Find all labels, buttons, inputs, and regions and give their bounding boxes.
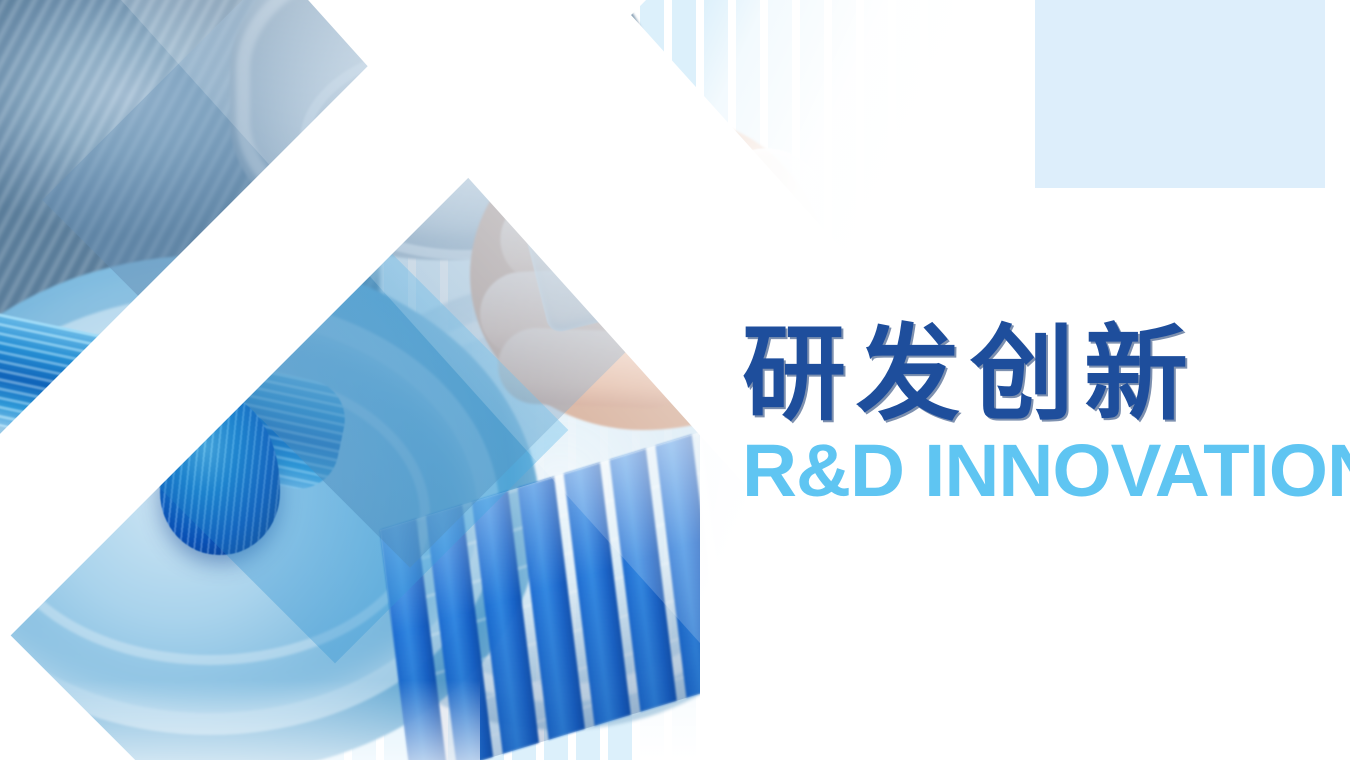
page-subtitle: R&D INNOVATION (742, 434, 1350, 508)
page-title: 研发创新 (742, 318, 1342, 430)
banner-root: 恒瑞 研发创新 R&D INNOVATION (0, 0, 1350, 760)
headline-block: 研发创新 R&D INNOVATION (742, 318, 1342, 508)
logo-panel: 恒瑞 (1035, 0, 1325, 188)
white-wedge-bottom-left (0, 680, 480, 760)
